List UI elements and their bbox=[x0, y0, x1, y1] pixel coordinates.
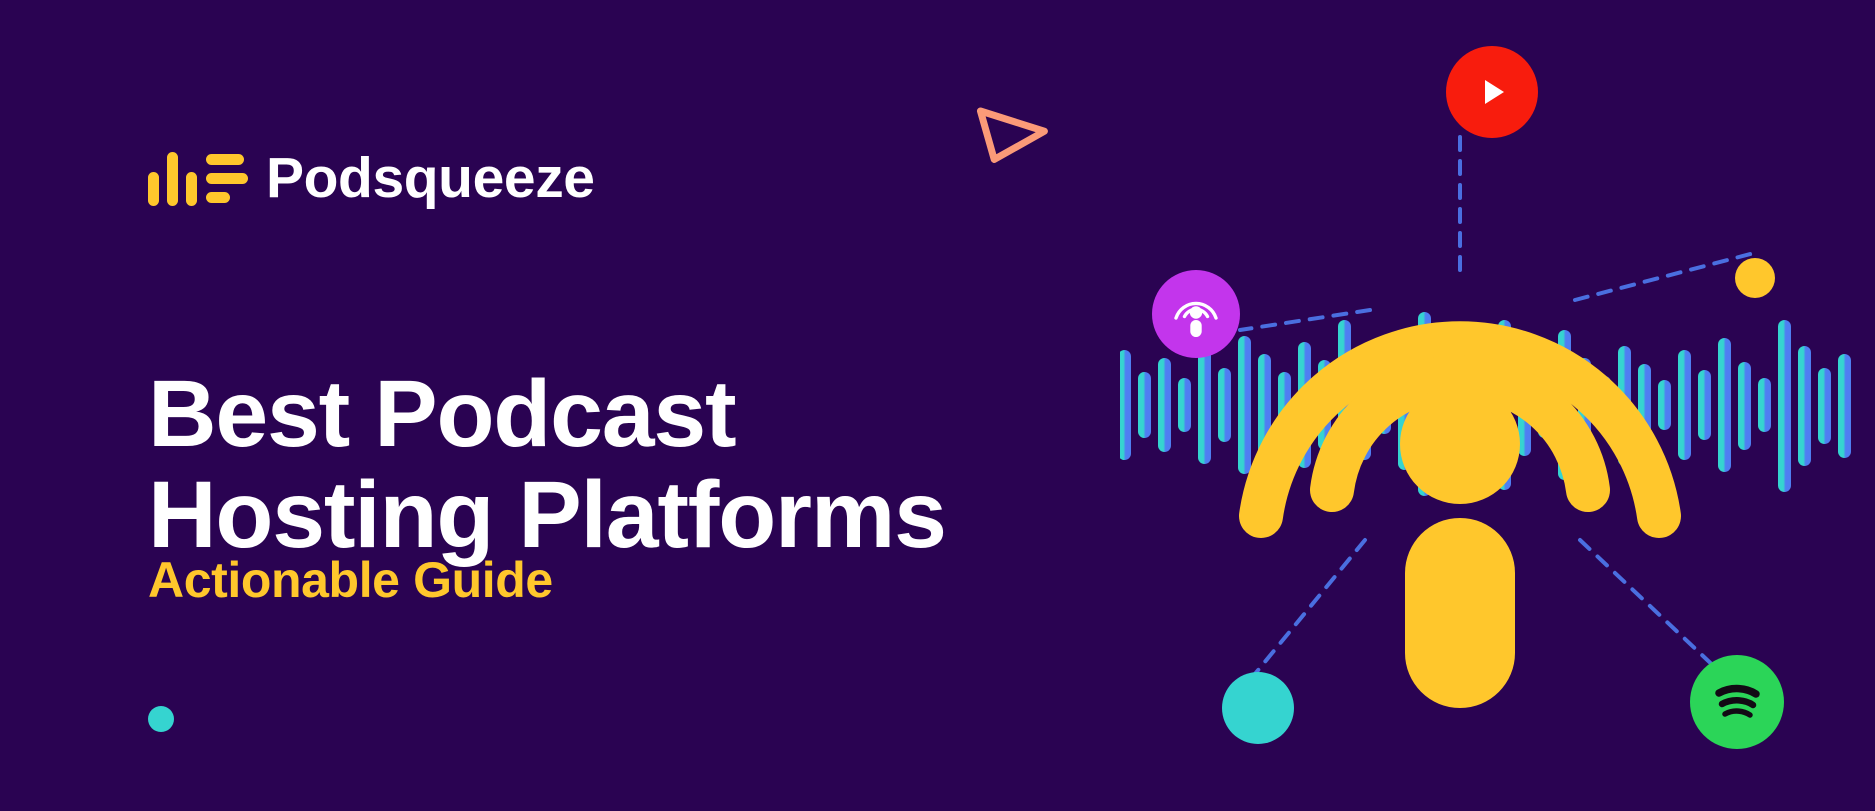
logo-bar-2 bbox=[167, 152, 178, 206]
teal-dot-small-decoration-icon bbox=[148, 706, 174, 732]
logo-bar-3 bbox=[186, 172, 197, 206]
logo-line-3 bbox=[206, 192, 230, 203]
brand-wordmark: Podsqueeze bbox=[266, 150, 595, 207]
badge-apple-podcasts[interactable] bbox=[1152, 270, 1240, 358]
page-title: Best Podcast Hosting Platforms bbox=[148, 364, 946, 567]
apple-podcasts-icon bbox=[1167, 285, 1225, 343]
logo-line-1 bbox=[206, 154, 244, 165]
podsqueeze-waveform-logo-icon bbox=[148, 148, 244, 208]
page-title-line-1: Best Podcast bbox=[148, 364, 946, 466]
brand-logo[interactable]: Podsqueeze bbox=[148, 148, 595, 208]
page-subtitle: Actionable Guide bbox=[148, 555, 553, 605]
podcast-hosting-banner: Podsqueeze Best Podcast Hosting Platform… bbox=[0, 0, 1875, 811]
logo-bar-1 bbox=[148, 172, 159, 206]
podcast-person-glyph bbox=[1400, 384, 1520, 708]
logo-line-2 bbox=[206, 173, 248, 184]
play-triangle-icon bbox=[1470, 70, 1514, 114]
spotify-icon bbox=[1706, 671, 1768, 733]
yellow-dot-decoration-icon bbox=[1735, 258, 1775, 298]
play-triangle-outline-icon bbox=[974, 95, 1055, 167]
teal-dot-large-decoration-icon bbox=[1222, 672, 1294, 744]
badge-spotify[interactable] bbox=[1690, 655, 1784, 749]
badge-youtube[interactable] bbox=[1446, 46, 1538, 138]
